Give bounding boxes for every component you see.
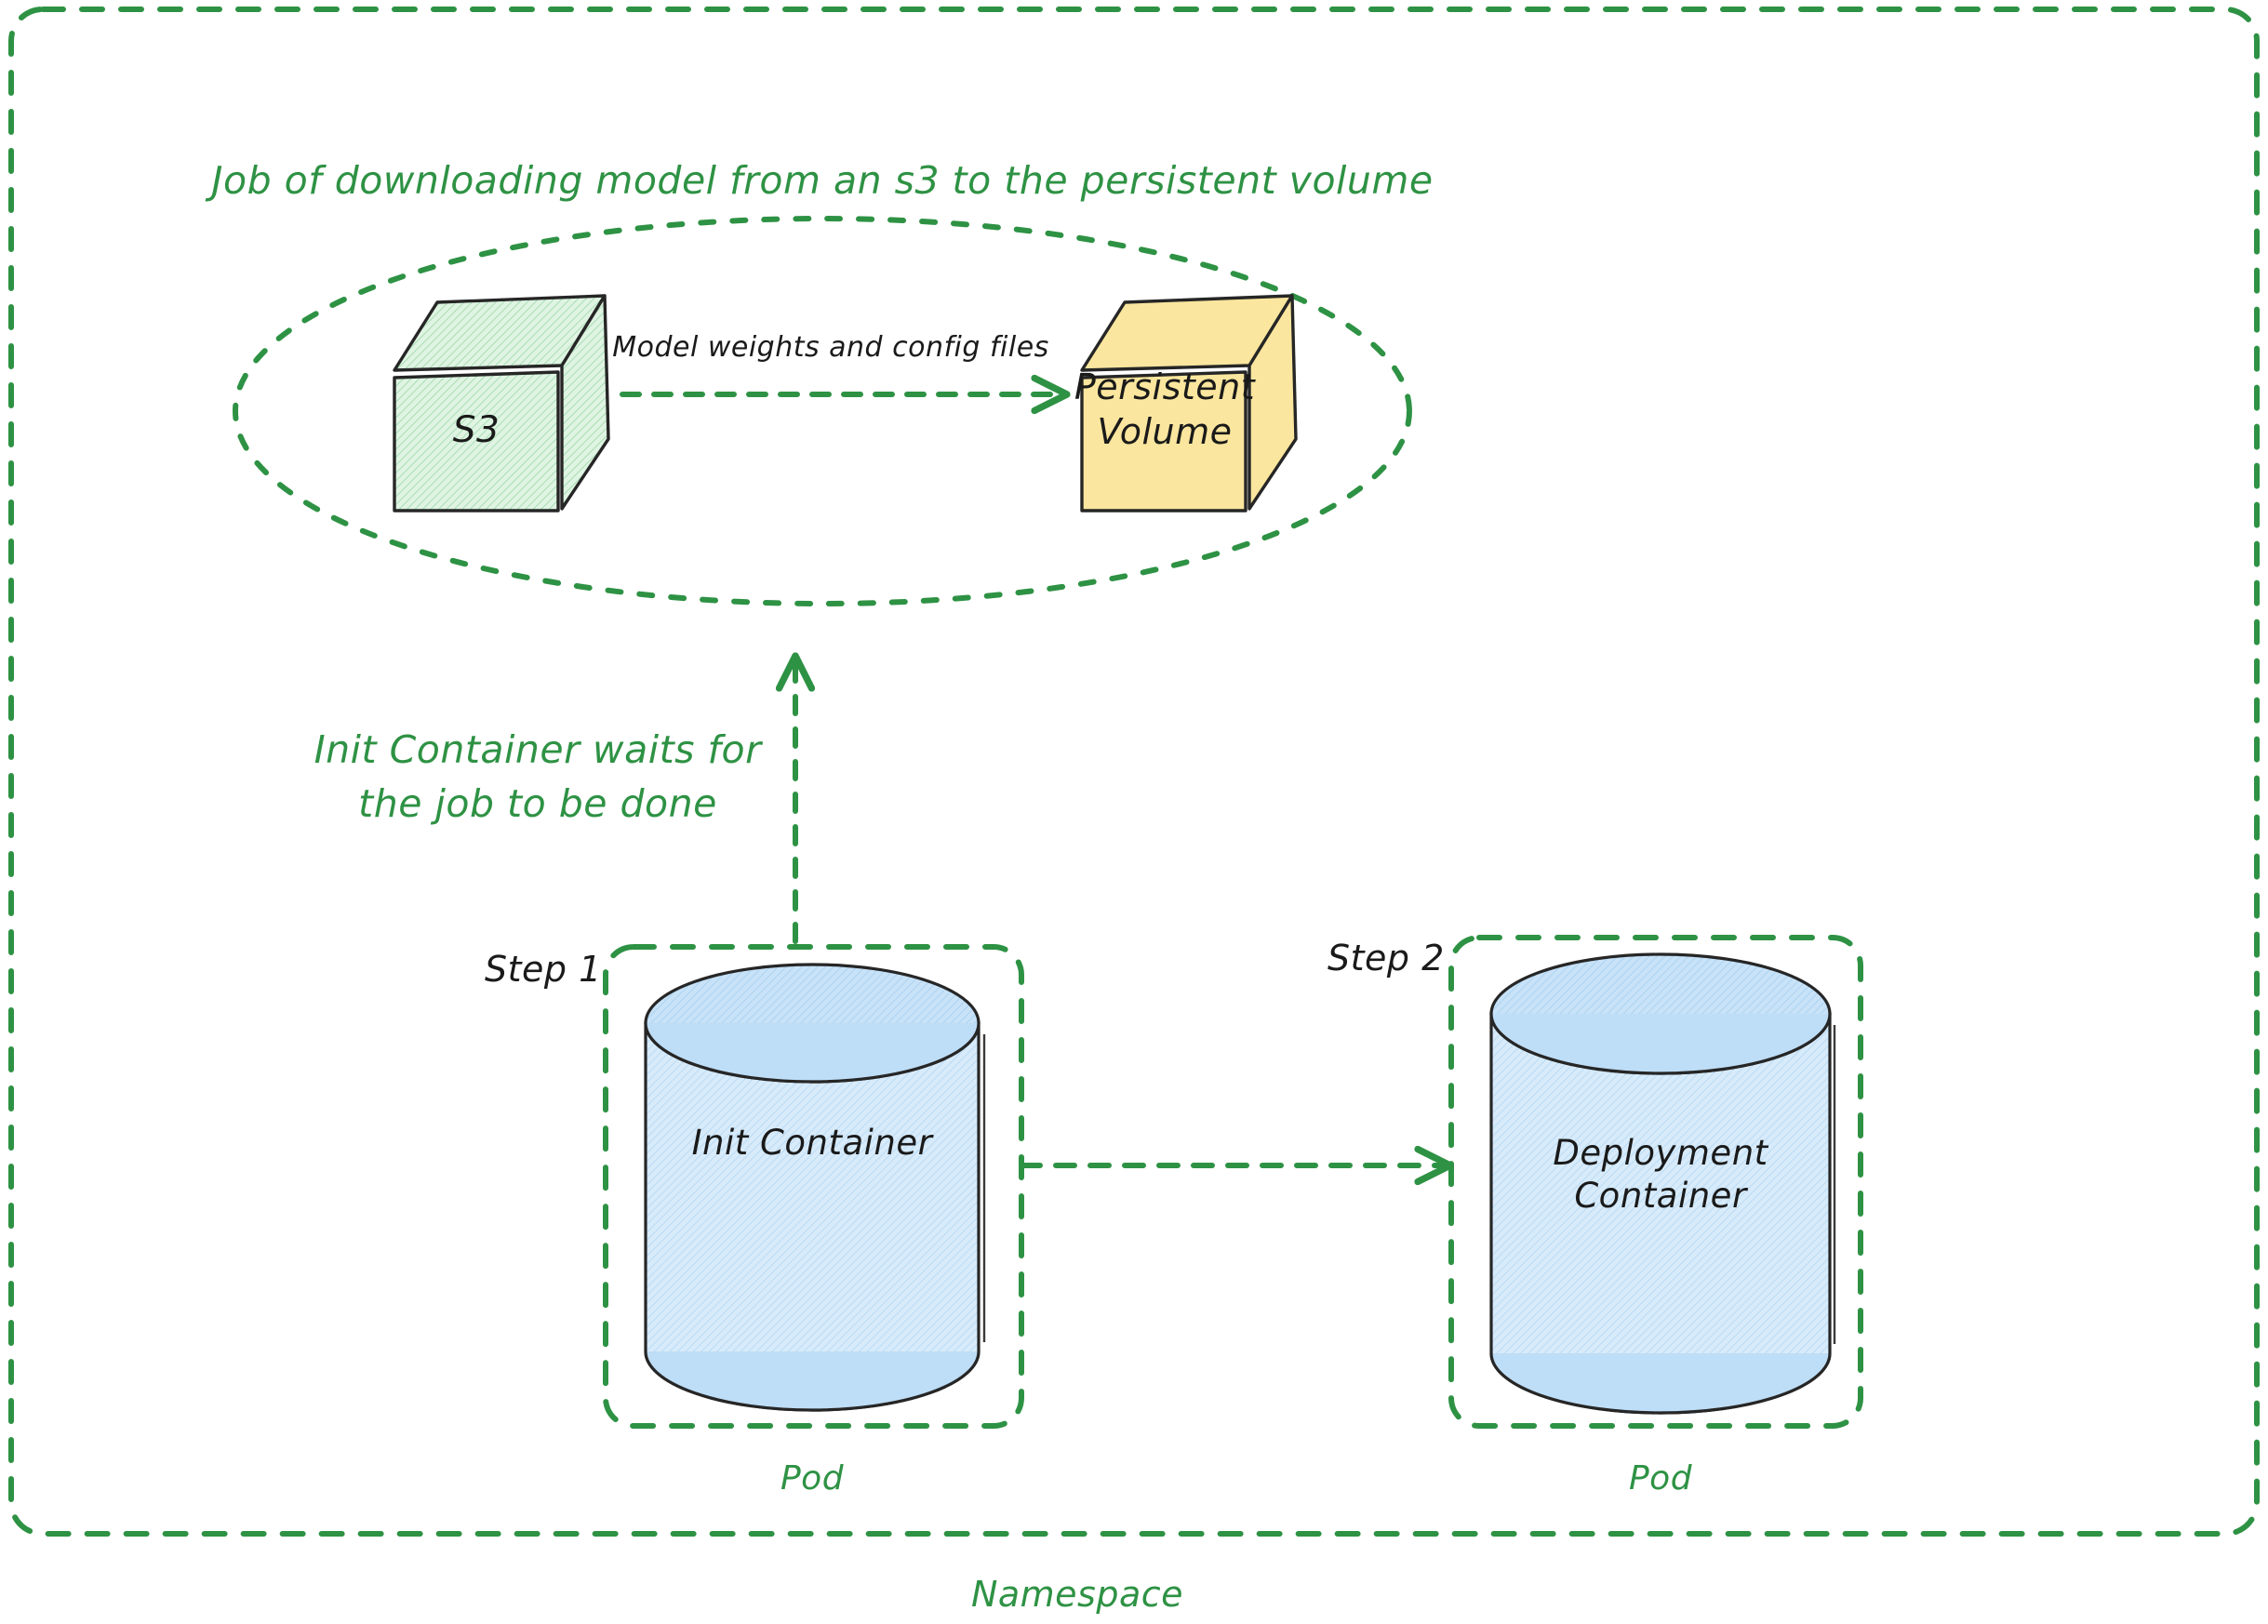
pod-2-label: Pod [1629, 1458, 1692, 1500]
edge-label-init-waits-line2: the job to be done [358, 779, 717, 828]
diagram-vector-layer [0, 0, 2268, 1624]
deployment-container-label-line1: Deployment [1553, 1131, 1768, 1175]
persistent-volume-label-line1: Persistent [1074, 365, 1255, 410]
pod-1-label: Pod [780, 1458, 844, 1500]
job-title-label: Job of downloading model from an s3 to t… [211, 156, 1433, 205]
init-container-label: Init Container [692, 1121, 933, 1165]
s3-cube [394, 296, 608, 511]
step-2-label: Step 2 [1327, 936, 1445, 981]
s3-cube-label: S3 [453, 407, 500, 454]
init-container-cylinder [646, 965, 984, 1410]
persistent-volume-label-line2: Volume [1097, 409, 1232, 455]
deployment-container-label-line2: Container [1574, 1174, 1746, 1218]
step-1-label: Step 1 [485, 947, 602, 992]
edge-label-model-weights: Model weights and config files [612, 330, 1049, 366]
namespace-label: Namespace [971, 1572, 1183, 1617]
diagram-canvas: Job of downloading model from an s3 to t… [0, 0, 2268, 1624]
edge-label-init-waits-line1: Init Container waits for [314, 725, 762, 774]
